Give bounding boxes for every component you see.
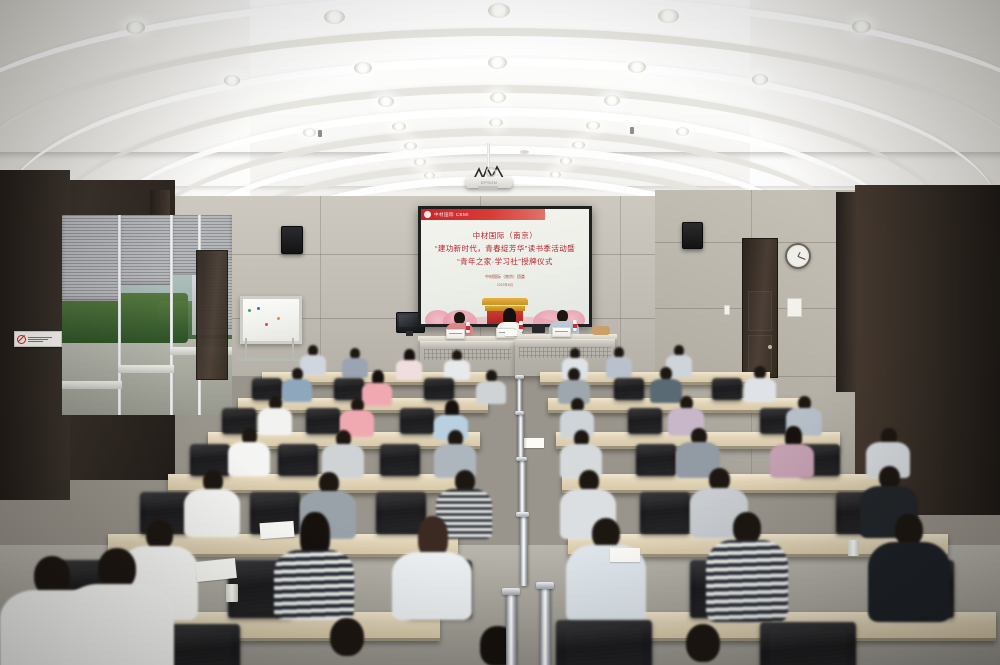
ceiling-downlight bbox=[604, 95, 620, 106]
ceiling-downlight bbox=[489, 118, 503, 127]
audience-chair[interactable] bbox=[400, 408, 434, 434]
aisle-stanchion[interactable] bbox=[520, 516, 528, 586]
attendee bbox=[706, 512, 788, 622]
attendee bbox=[228, 428, 270, 476]
ceiling-downlight bbox=[354, 62, 372, 74]
speaker-document bbox=[505, 330, 517, 336]
ceiling-downlight bbox=[628, 61, 646, 73]
attendee bbox=[868, 514, 950, 622]
whiteboard-magnet bbox=[277, 317, 280, 320]
attendee-body bbox=[770, 444, 814, 478]
window-sill bbox=[62, 381, 122, 389]
ceiling-downlight bbox=[676, 127, 689, 136]
ceiling-downlight bbox=[586, 121, 600, 130]
window-sill bbox=[118, 365, 174, 373]
ceiling-downlight bbox=[414, 158, 426, 166]
attendee bbox=[558, 368, 590, 402]
ceiling-downlight bbox=[658, 9, 679, 23]
whiteboard-magnet bbox=[265, 323, 268, 326]
whiteboard-magnet bbox=[248, 309, 251, 312]
aisle-stanchion-cap bbox=[516, 512, 529, 517]
desk-paper bbox=[522, 438, 544, 448]
audience-chair[interactable] bbox=[614, 378, 644, 400]
whiteboard-stand-leg bbox=[245, 338, 247, 360]
attendee-body bbox=[444, 360, 470, 380]
ceiling-downlight bbox=[752, 74, 768, 85]
monitor-stand bbox=[406, 331, 413, 336]
aisle-stanchion-cap bbox=[516, 457, 527, 461]
attendee-body bbox=[62, 584, 174, 665]
door-panel bbox=[748, 291, 772, 331]
slide-banner-label: 中材国际 CBMI bbox=[434, 212, 469, 218]
desk-cup bbox=[848, 540, 859, 556]
ceiling-downlight bbox=[126, 21, 145, 34]
ceiling-downlight bbox=[324, 10, 345, 24]
ceiling-downlight bbox=[392, 122, 406, 131]
attendee-body bbox=[706, 540, 788, 622]
whiteboard-stand-base bbox=[238, 358, 300, 361]
ceiling-downlight bbox=[560, 157, 572, 165]
no-smoking-sign bbox=[14, 331, 62, 347]
window-blind bbox=[120, 215, 172, 285]
attendee bbox=[744, 366, 776, 400]
aisle-stanchion[interactable] bbox=[519, 460, 526, 516]
desk-paper bbox=[610, 548, 640, 562]
company-logo-icon bbox=[424, 211, 431, 218]
water-bottle bbox=[519, 321, 523, 332]
projection-slide: 中材国际 CBMI 中材国际（南京） “建功新时代，青春绽芳华”读书季活动暨 “… bbox=[421, 209, 589, 324]
water-bottle bbox=[466, 322, 470, 333]
water-bottle bbox=[573, 320, 577, 331]
aisle-stanchion-cap bbox=[502, 588, 520, 595]
door-notice bbox=[787, 298, 802, 317]
room-door-left[interactable] bbox=[196, 250, 228, 380]
whiteboard-magnet bbox=[257, 307, 260, 310]
speaker-nameplate bbox=[446, 329, 465, 339]
attendee bbox=[444, 350, 470, 377]
attendee-foreground bbox=[656, 624, 746, 665]
ceiling-downlight bbox=[488, 56, 507, 69]
attendee-body bbox=[396, 360, 422, 380]
smoke-detector bbox=[520, 150, 529, 154]
no-smoking-icon bbox=[17, 335, 26, 344]
wall-speaker-right bbox=[682, 222, 703, 249]
wall-speaker-left bbox=[281, 226, 303, 254]
conference-room-photo: EPSON bbox=[0, 0, 1000, 665]
desk-cup bbox=[226, 584, 238, 602]
attendee-body bbox=[274, 550, 354, 620]
attendee-body bbox=[606, 357, 632, 378]
projector-brand-label: EPSON bbox=[466, 180, 512, 185]
gate-roof-upper bbox=[482, 298, 528, 305]
slide-title-line-1: 中材国际（南京） bbox=[421, 230, 589, 241]
ceiling-downlight bbox=[424, 172, 435, 179]
desk-paper bbox=[195, 558, 237, 582]
audience-chair[interactable] bbox=[712, 378, 742, 400]
aisle-stanchion-cap bbox=[536, 582, 554, 589]
ceiling-downlight bbox=[404, 142, 417, 150]
attendee-head bbox=[330, 618, 364, 656]
audience-chair[interactable] bbox=[640, 492, 690, 534]
slide-banner: 中材国际 CBMI bbox=[421, 209, 545, 220]
attendee bbox=[566, 518, 646, 622]
aisle-stanchion[interactable] bbox=[518, 414, 524, 460]
slide-title-line-3: “青年之家·学习社”授牌仪式 bbox=[421, 256, 589, 267]
desk-paper bbox=[259, 521, 294, 539]
audience-chair[interactable] bbox=[334, 378, 364, 400]
aisle-stanchion[interactable] bbox=[506, 592, 517, 665]
window-blind bbox=[62, 215, 120, 301]
speaker-laptop bbox=[532, 324, 545, 333]
aisle-stanchion[interactable] bbox=[517, 378, 522, 414]
attendee-body bbox=[476, 381, 506, 404]
whiteboard[interactable] bbox=[240, 296, 302, 344]
audience-chair[interactable] bbox=[424, 378, 454, 400]
front-right-column bbox=[836, 192, 858, 392]
room-door[interactable] bbox=[742, 238, 778, 378]
audience-chair[interactable] bbox=[628, 408, 662, 434]
attendee bbox=[392, 516, 472, 620]
wall-clock bbox=[785, 243, 811, 269]
attendee-foreground bbox=[300, 618, 390, 665]
slide-subtitle-line-1: 中材国际（南京）团委 bbox=[421, 274, 589, 280]
projector-lens bbox=[478, 186, 498, 190]
attendee bbox=[322, 430, 364, 478]
audience-chair[interactable] bbox=[380, 444, 420, 476]
ceiling-downlight bbox=[490, 92, 506, 103]
whiteboard-stand-leg bbox=[292, 338, 294, 360]
ceiling-downlight bbox=[303, 128, 316, 137]
slide-title-line-2: “建功新时代，青春绽芳华”读书季活动暨 bbox=[421, 243, 589, 254]
attendee-foreground bbox=[62, 548, 174, 665]
no-smoking-text bbox=[28, 337, 52, 342]
speaker-nameplate bbox=[552, 327, 571, 337]
wall-notice-small bbox=[724, 305, 730, 315]
audience-chair[interactable] bbox=[636, 444, 676, 476]
clock-hand-minute bbox=[798, 256, 806, 260]
ceiling-sprinkler bbox=[318, 130, 322, 137]
door-handle[interactable] bbox=[768, 345, 772, 349]
aisle-stanchion-cap bbox=[515, 375, 524, 379]
attendee bbox=[770, 426, 814, 478]
attendee-head bbox=[686, 624, 720, 662]
attendee bbox=[606, 347, 632, 375]
window-mullion bbox=[170, 215, 173, 415]
attendee-body bbox=[392, 552, 472, 620]
speaker-bag bbox=[592, 326, 610, 335]
ceiling-downlight bbox=[488, 3, 510, 18]
ceiling-downlight bbox=[378, 96, 394, 107]
attendee bbox=[396, 349, 422, 376]
attendee-foreground bbox=[452, 626, 542, 665]
audience-chair-foreground[interactable] bbox=[760, 622, 856, 665]
ceiling-downlight bbox=[550, 171, 561, 178]
aisle-stanchion[interactable] bbox=[540, 586, 551, 665]
attendee-body bbox=[744, 378, 776, 402]
ceiling-downlight bbox=[224, 75, 240, 86]
slide-subtitle-line-2: 2019年6月 bbox=[421, 282, 589, 287]
attendee bbox=[476, 370, 506, 402]
aisle-stanchion-cap bbox=[515, 411, 524, 415]
ceiling-downlight bbox=[572, 141, 585, 149]
attendee-body bbox=[868, 542, 950, 622]
ceiling-downlight bbox=[852, 20, 871, 33]
ceiling-sprinkler bbox=[630, 127, 634, 134]
audience-chair-foreground[interactable] bbox=[556, 620, 652, 665]
